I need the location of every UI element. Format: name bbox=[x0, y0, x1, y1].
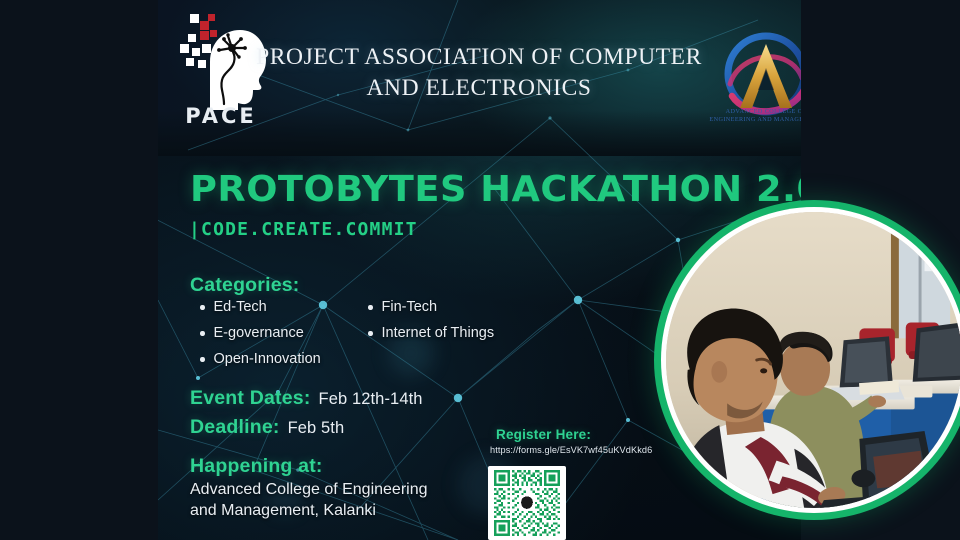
category-label: E-governance bbox=[214, 326, 304, 341]
registration-qr-code[interactable] bbox=[488, 466, 566, 540]
bullet-icon bbox=[368, 331, 373, 336]
photo-illustration bbox=[666, 212, 960, 508]
venue-address: Advanced College of Engineering and Mana… bbox=[190, 479, 490, 522]
categories-column-right: Fin-Tech Internet of Things bbox=[368, 300, 494, 352]
qr-code-icon bbox=[492, 470, 562, 536]
category-item: E-governance bbox=[200, 326, 321, 341]
venue-line-1: Advanced College of Engineering bbox=[190, 479, 490, 500]
bullet-icon bbox=[200, 331, 205, 336]
bullet-icon bbox=[368, 305, 373, 310]
category-item: Open-Innovation bbox=[200, 352, 321, 367]
bullet-icon bbox=[200, 305, 205, 310]
category-label: Internet of Things bbox=[382, 326, 495, 341]
bullet-icon bbox=[200, 357, 205, 362]
register-url[interactable]: https://forms.gle/EsVK7wf45uKVdKkd6 bbox=[490, 445, 652, 455]
category-label: Ed-Tech bbox=[214, 300, 267, 315]
photo-ring-inner bbox=[661, 207, 960, 513]
deadline-label: Deadline: bbox=[190, 416, 280, 439]
deadline-value: Feb 5th bbox=[288, 419, 345, 438]
categories-column-left: Ed-Tech E-governance Open-Innovation bbox=[200, 300, 321, 378]
photo-ring-border bbox=[654, 200, 960, 520]
venue-heading: Happening at: bbox=[190, 455, 323, 478]
organization-title: PROJECT ASSOCIATION OF COMPUTER AND ELEC… bbox=[254, 42, 704, 104]
org-title-line-1: PROJECT ASSOCIATION OF COMPUTER bbox=[256, 44, 702, 70]
org-title-line-2: AND ELECTRONICS bbox=[254, 73, 704, 104]
event-dates-value: Feb 12th-14th bbox=[319, 390, 423, 409]
college-logo-text: ADVANCED COLLEGE OF ENGINEERING AND MANA… bbox=[702, 108, 801, 125]
event-tagline: |CODE.CREATE.COMMIT bbox=[189, 219, 418, 240]
event-dates-row: Event Dates: Feb 12th-14th bbox=[190, 387, 423, 410]
poster-screenshot: PACE PROJECT ASSOCIATION OF COMPUTER AND… bbox=[0, 0, 960, 540]
categories-heading: Categories: bbox=[190, 274, 299, 297]
category-item: Fin-Tech bbox=[368, 300, 494, 315]
category-label: Open-Innovation bbox=[214, 352, 321, 367]
participants-photo bbox=[666, 212, 960, 508]
category-label: Fin-Tech bbox=[382, 300, 438, 315]
event-dates-label: Event Dates: bbox=[190, 387, 311, 410]
category-item: Internet of Things bbox=[368, 326, 494, 341]
event-headline: PROTOBYTES HACKATHON 2.0 bbox=[190, 172, 801, 208]
category-item: Ed-Tech bbox=[200, 300, 321, 315]
register-heading: Register Here: bbox=[496, 427, 591, 442]
deadline-row: Deadline: Feb 5th bbox=[190, 416, 344, 439]
venue-line-2: and Management, Kalanki bbox=[190, 500, 490, 521]
pace-wordmark: PACE bbox=[166, 104, 276, 128]
